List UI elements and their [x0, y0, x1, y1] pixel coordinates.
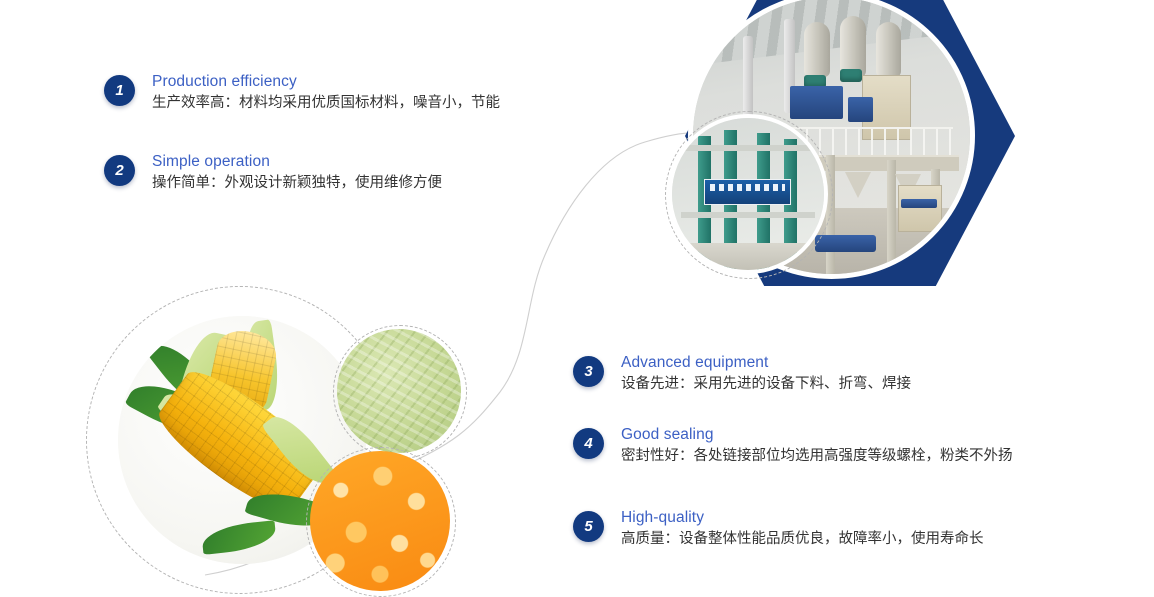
feature-description-4: 密封性好：各处链接部位均选用高强度等级螺栓，粉类不外扬: [621, 445, 1013, 467]
feature-badge-2: 2: [104, 155, 135, 186]
feature-description-5: 高质量：设备整体性能品质优良，故障率小，使用寿命长: [621, 528, 984, 550]
corn-processing-line-photo: [672, 118, 824, 270]
feature-title-5: High-quality: [621, 508, 984, 527]
feature-title-2: Simple operation: [152, 152, 442, 171]
feature-title-3: Advanced equipment: [621, 353, 911, 372]
corn-grits-photo: [310, 451, 450, 591]
feature-badge-3: 3: [573, 356, 604, 387]
feature-item-3: 3 Advanced equipment 设备先进：采用先进的设备下料、折弯、焊…: [573, 353, 911, 395]
green-corn-paste-photo: [337, 329, 461, 453]
feature-badge-5: 5: [573, 511, 604, 542]
feature-badge-1: 1: [104, 75, 135, 106]
feature-description-1: 生产效率高：材料均采用优质国标材料，噪音小，节能: [152, 92, 500, 114]
feature-description-2: 操作简单：外观设计新颖独特，使用维修方便: [152, 172, 442, 194]
feature-title-4: Good sealing: [621, 425, 1013, 444]
feature-item-5: 5 High-quality 高质量：设备整体性能品质优良，故障率小，使用寿命长: [573, 508, 984, 550]
feature-title-1: Production efficiency: [152, 72, 500, 91]
feature-item-2: 2 Simple operation 操作简单：外观设计新颖独特，使用维修方便: [104, 152, 442, 194]
feature-badge-4: 4: [573, 428, 604, 459]
feature-item-1: 1 Production efficiency 生产效率高：材料均采用优质国标材…: [104, 72, 500, 114]
feature-description-3: 设备先进：采用先进的设备下料、折弯、焊接: [621, 373, 911, 395]
feature-item-4: 4 Good sealing 密封性好：各处链接部位均选用高强度等级螺栓，粉类不…: [573, 425, 1013, 467]
feature-layout: 1 Production efficiency 生产效率高：材料均采用优质国标材…: [0, 0, 1154, 591]
